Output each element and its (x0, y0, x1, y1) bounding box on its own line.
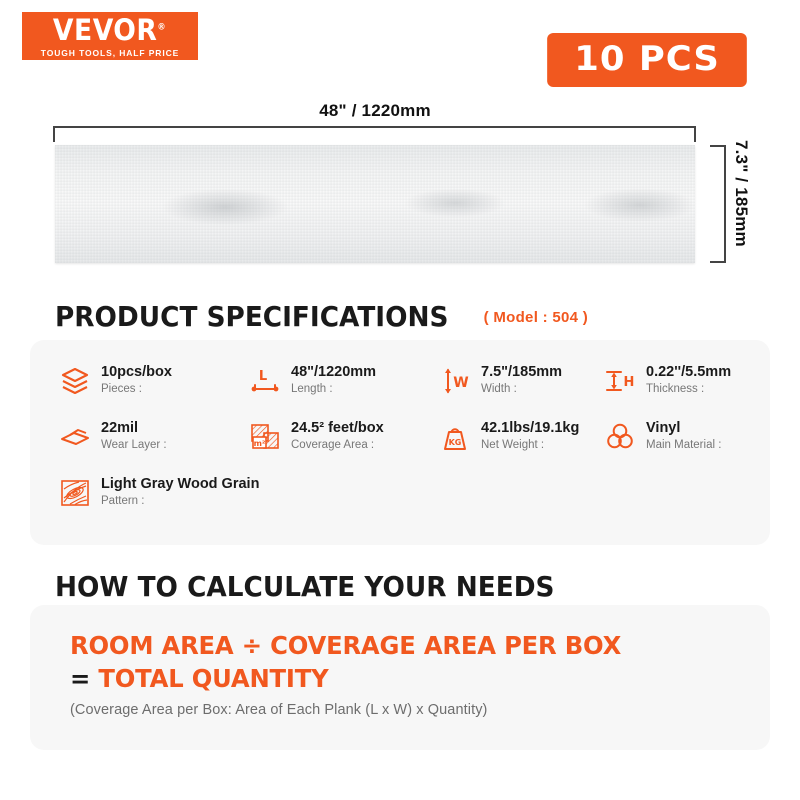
quantity-badge: 10 PCS (547, 33, 747, 87)
spec-value-wear-layer: 22mil (101, 420, 138, 436)
specifications-heading-row: PRODUCT SPECIFICATIONS ( Model : 504 ) (55, 300, 588, 333)
spec-value-pieces: 10pcs/box (101, 364, 172, 380)
weight-kg-icon: KG (438, 420, 472, 454)
spec-value-pattern: Light Gray Wood Grain (101, 476, 259, 492)
length-arrow-icon: L (248, 364, 282, 398)
spec-item-pattern: Light Gray Wood Grain Pattern : (58, 474, 248, 510)
svg-text:m²: m² (254, 439, 266, 448)
spec-item-main-material: Vinyl Main Material : (603, 418, 773, 454)
spec-item-net-weight: KG 42.1lbs/19.1kg Net Weight : (438, 418, 603, 454)
svg-text:KG: KG (449, 438, 462, 447)
spec-text-length: 48"/1220mm Length : (291, 362, 376, 398)
product-image-section: 48" / 1220mm 7.3" / 185mm (0, 100, 800, 285)
logo-wordmark-text: VEVOR (53, 13, 158, 47)
spec-item-width: W 7.5"/185mm Width : (438, 362, 603, 398)
spec-text-pieces: 10pcs/box Pieces : (101, 362, 172, 398)
spec-value-length: 48"/1220mm (291, 364, 376, 380)
stacked-planks-icon (58, 364, 92, 398)
calculate-heading: HOW TO CALCULATE YOUR NEEDS (55, 570, 555, 603)
wood-grain-icon (58, 476, 92, 510)
calculate-formula: ROOM AREA ÷ COVERAGE AREA PER BOX = TOTA… (70, 629, 621, 695)
spec-item-pieces: 10pcs/box Pieces : (58, 362, 248, 398)
spec-text-wear-layer: 22mil Wear Layer : (101, 418, 167, 454)
spec-label-wear-layer: Wear Layer : (101, 438, 167, 454)
spec-value-net-weight: 42.1lbs/19.1kg (481, 420, 579, 436)
spec-item-coverage-area: m² 24.5² feet/box Coverage Area : (248, 418, 438, 454)
spec-text-main-material: Vinyl Main Material : (646, 418, 721, 454)
vinyl-plank-image (55, 145, 695, 263)
wear-layer-icon (58, 420, 92, 454)
spec-value-width: 7.5"/185mm (481, 364, 562, 380)
calculate-card: ROOM AREA ÷ COVERAGE AREA PER BOX = TOTA… (30, 605, 770, 750)
spec-text-net-weight: 42.1lbs/19.1kg Net Weight : (481, 418, 579, 454)
spec-label-length: Length : (291, 382, 376, 398)
spec-label-pattern: Pattern : (101, 494, 259, 510)
specifications-grid: 10pcs/box Pieces : L 48"/1220 (58, 362, 748, 510)
width-arrow-icon: W (438, 364, 472, 398)
spec-label-thickness: Thickness : (646, 382, 731, 398)
logo-wordmark: VEVOR® (53, 16, 166, 45)
specifications-heading: PRODUCT SPECIFICATIONS (55, 300, 448, 333)
logo-tagline: TOUGH TOOLS, HALF PRICE (41, 48, 179, 58)
specifications-card: 10pcs/box Pieces : L 48"/1220 (30, 340, 770, 545)
spec-text-pattern: Light Gray Wood Grain Pattern : (101, 474, 259, 510)
spec-label-width: Width : (481, 382, 562, 398)
calculate-heading-row: HOW TO CALCULATE YOUR NEEDS (55, 570, 586, 603)
length-dimension-bracket (53, 126, 696, 142)
spec-label-coverage-area: Coverage Area : (291, 438, 384, 454)
spec-label-pieces: Pieces : (101, 382, 172, 398)
spec-text-thickness: 0.22''/5.5mm Thickness : (646, 362, 731, 398)
spec-value-coverage-area: 24.5² feet/box (291, 420, 384, 436)
width-dimension-label: 7.3" / 185mm (731, 140, 751, 270)
model-number: ( Model : 504 ) (484, 309, 589, 326)
formula-equals-sign: = (70, 664, 90, 693)
spec-item-wear-layer: 22mil Wear Layer : (58, 418, 248, 454)
spec-value-main-material: Vinyl (646, 420, 680, 436)
vevor-logo: VEVOR® TOUGH TOOLS, HALF PRICE (22, 12, 198, 60)
thickness-arrow-icon: H (603, 364, 637, 398)
length-dimension-label: 48" / 1220mm (55, 101, 695, 121)
spec-item-length: L 48"/1220mm Length : (248, 362, 438, 398)
spec-label-main-material: Main Material : (646, 438, 721, 454)
spec-value-thickness: 0.22''/5.5mm (646, 364, 731, 380)
svg-text:W: W (453, 375, 468, 391)
width-dimension-bracket (710, 145, 726, 263)
spec-text-width: 7.5"/185mm Width : (481, 362, 562, 398)
spec-label-net-weight: Net Weight : (481, 438, 579, 454)
formula-line-1: ROOM AREA ÷ COVERAGE AREA PER BOX (70, 629, 621, 662)
spec-text-coverage-area: 24.5² feet/box Coverage Area : (291, 418, 384, 454)
material-circles-icon (603, 420, 637, 454)
calculate-note: (Coverage Area per Box: Area of Each Pla… (70, 702, 487, 718)
svg-text:H: H (624, 375, 635, 390)
spec-item-thickness: H 0.22''/5.5mm Thickness : (603, 362, 773, 398)
coverage-area-icon: m² (248, 420, 282, 454)
registered-trademark-icon: ® (158, 22, 167, 32)
page-header: VEVOR® TOUGH TOOLS, HALF PRICE 10 PCS (0, 0, 800, 100)
svg-text:L: L (259, 369, 267, 384)
formula-total-quantity: TOTAL QUANTITY (98, 664, 328, 693)
formula-line-2: = TOTAL QUANTITY (70, 662, 621, 695)
